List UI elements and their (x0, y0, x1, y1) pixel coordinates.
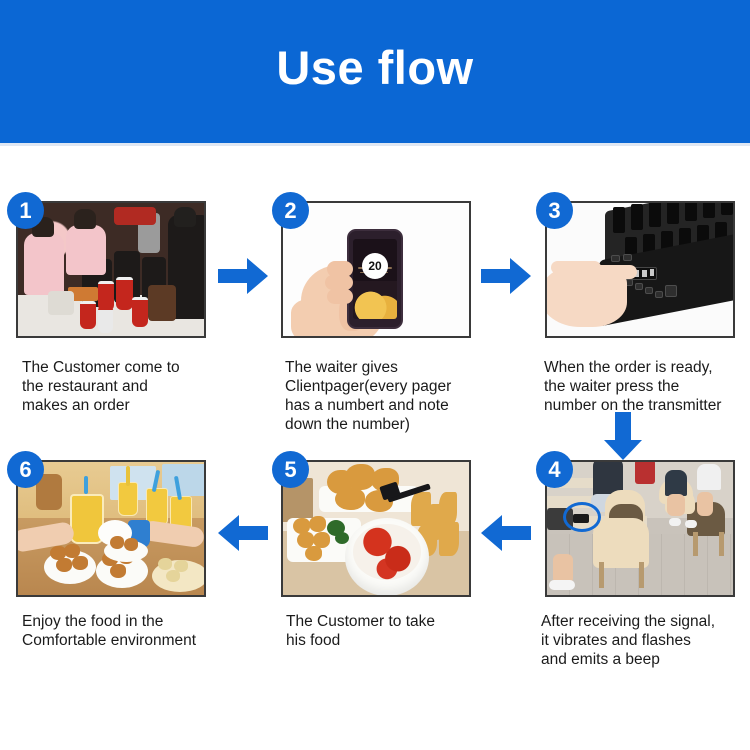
step-4-badge: 4 (536, 451, 573, 488)
step-3-caption: When the order is ready, the waiter pres… (544, 358, 750, 415)
step-6-badge: 6 (7, 451, 44, 488)
arrow-step2-to-step3 (481, 258, 531, 294)
step-1-caption: The Customer come to the restaurant and … (22, 358, 242, 415)
use-flow-infographic: Use flow (0, 0, 750, 750)
scene-fried-food-platter (283, 462, 469, 595)
step-6-caption: Enjoy the food in the Comfortable enviro… (22, 612, 252, 650)
pager-number-badge: 20 (362, 253, 388, 279)
pager-highlight-circle (563, 502, 601, 532)
step-1-photo (16, 201, 206, 338)
step-5-caption: The Customer to take his food (286, 612, 496, 650)
arrow-step5-to-step6 (218, 515, 268, 551)
step-3-photo (545, 201, 735, 338)
page-title: Use flow (276, 44, 473, 91)
scene-hand-holding-phone-pager: 20 (283, 203, 469, 336)
banner-underline (0, 143, 750, 146)
scene-hand-pressing-transmitter (547, 203, 733, 336)
step-1-badge: 1 (7, 192, 44, 229)
step-6-photo (16, 460, 206, 597)
arrow-step4-to-step5 (481, 515, 531, 551)
header-banner: Use flow (0, 0, 750, 143)
step-5-badge: 5 (272, 451, 309, 488)
step-2-photo: 20 (281, 201, 471, 338)
scene-friends-toasting-drinks (18, 462, 204, 595)
step-4-photo (545, 460, 735, 597)
step-3-badge: 3 (536, 192, 573, 229)
scene-customers-ordering-at-counter (18, 203, 204, 336)
step-2-caption: The waiter gives Clientpager(every pager… (285, 358, 515, 434)
step-4-caption: After receiving the signal, it vibrates … (541, 612, 750, 669)
scene-restaurant-table-with-pager (547, 462, 733, 595)
step-5-photo (281, 460, 471, 597)
arrow-step1-to-step2 (218, 258, 268, 294)
arrow-step3-to-step4 (604, 412, 642, 460)
step-2-badge: 2 (272, 192, 309, 229)
